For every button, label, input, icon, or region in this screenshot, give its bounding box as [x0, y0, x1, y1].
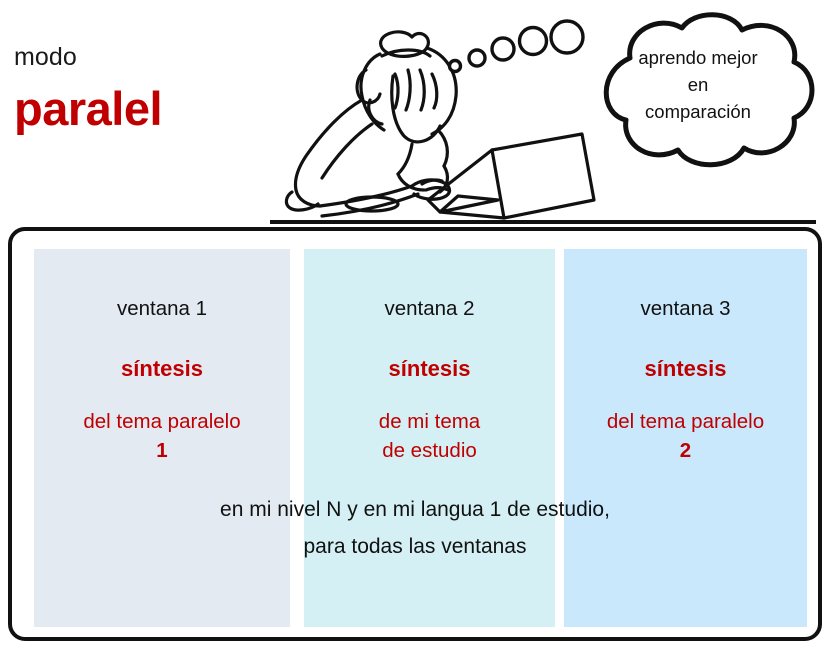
windows-panel: ventana 1 síntesis del tema paralelo 1 v… — [8, 227, 822, 641]
window-column-3[interactable]: ventana 3 síntesis del tema paralelo 2 — [564, 249, 807, 627]
window-2-title: ventana 2 — [304, 297, 555, 321]
thought-cloud-text: aprendo mejor en comparación — [592, 44, 804, 126]
window-column-1[interactable]: ventana 1 síntesis del tema paralelo 1 — [34, 249, 290, 627]
window-2-description: de mi tema de estudio — [304, 407, 555, 465]
window-column-2[interactable]: ventana 2 síntesis de mi tema de estudio — [304, 249, 555, 627]
window-3-desc-line-1: del tema paralelo — [607, 410, 764, 433]
windows-columns: ventana 1 síntesis del tema paralelo 1 v… — [12, 231, 826, 645]
thought-cloud-line-1: aprendo mejor — [592, 44, 804, 71]
title-block: modo paralel — [14, 45, 274, 133]
window-2-desc-line-1: de mi tema — [379, 410, 480, 433]
thought-cloud-line-3: comparación — [592, 98, 804, 125]
window-1-title: ventana 1 — [34, 297, 290, 321]
window-2-desc-line-2: de estudio — [382, 439, 477, 462]
window-2-synthesis-label: síntesis — [304, 356, 555, 382]
window-3-synthesis-label: síntesis — [564, 356, 807, 382]
window-1-synthesis-label: síntesis — [34, 356, 290, 382]
thought-cloud-line-2: en — [592, 71, 804, 98]
mode-value: paralel — [14, 84, 274, 133]
desk-line — [270, 220, 816, 224]
window-1-desc-line-1: del tema paralelo — [83, 410, 240, 433]
window-3-title: ventana 3 — [564, 297, 807, 321]
header-area: modo paralel — [0, 0, 834, 225]
window-1-description: del tema paralelo 1 — [34, 407, 290, 465]
mode-label: modo — [14, 45, 274, 70]
window-3-desc-line-2: 2 — [680, 439, 691, 462]
window-3-description: del tema paralelo 2 — [564, 407, 807, 465]
window-1-desc-line-2: 1 — [156, 439, 167, 462]
